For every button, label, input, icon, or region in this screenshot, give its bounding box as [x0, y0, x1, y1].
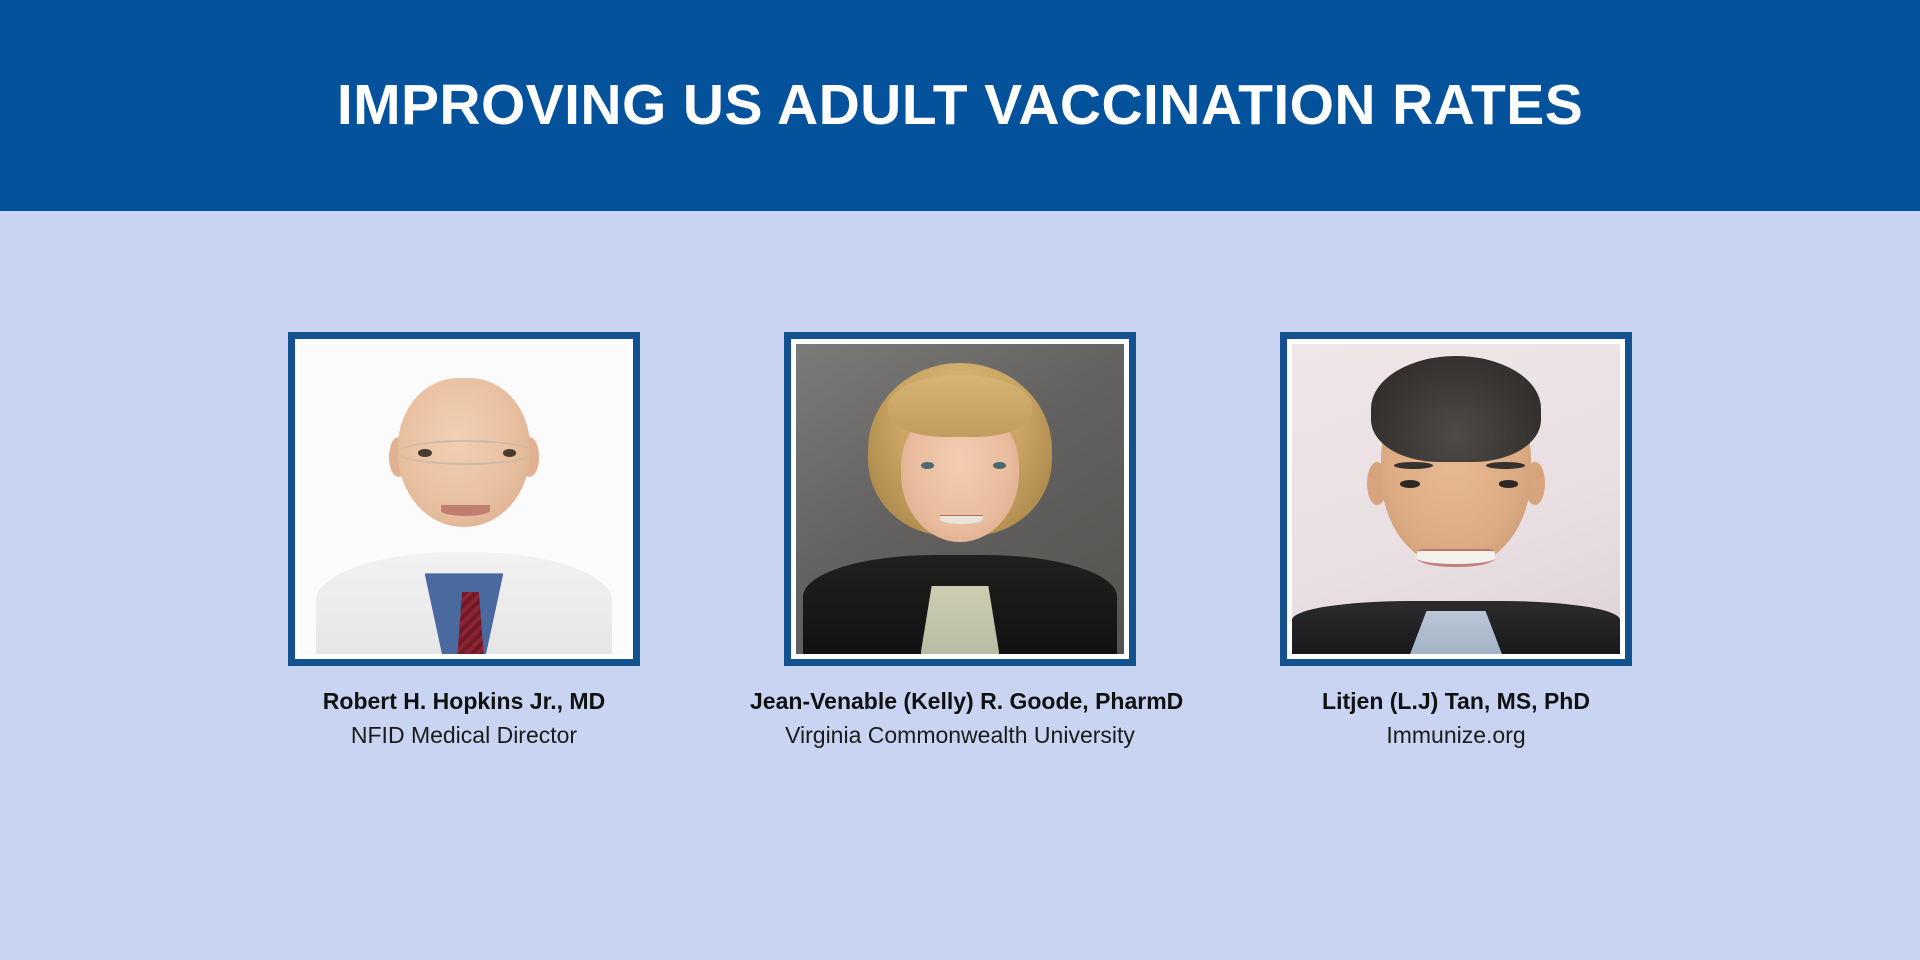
hair-shape: [389, 360, 540, 453]
speaker-caption-hopkins: Robert H. Hopkins Jr., MD NFID Medical D…: [254, 687, 674, 751]
speaker-card-tan: Litjen (L.J) Tan, MS, PhD Immunize.org: [1280, 332, 1632, 751]
mouth-shape: [1417, 549, 1496, 568]
eye-right-shape: [1499, 480, 1519, 487]
bangs-shape: [888, 375, 1032, 437]
speaker-caption-goode: Jean-Venable (Kelly) R. Goode, PharmD Vi…: [750, 687, 1170, 751]
speaker-name: Robert H. Hopkins Jr., MD: [254, 687, 674, 717]
speaker-caption-tan: Litjen (L.J) Tan, MS, PhD Immunize.org: [1246, 687, 1666, 751]
portrait-frame-hopkins: [288, 332, 640, 666]
title-banner: IMPROVING US ADULT VACCINATION RATES: [0, 0, 1920, 211]
portrait-photo-hopkins: [300, 344, 628, 654]
speaker-affiliation: Virginia Commonwealth University: [750, 720, 1170, 751]
portrait-frame-tan: [1280, 332, 1632, 666]
eye-left-shape: [921, 462, 934, 469]
hair-shape: [1371, 356, 1542, 461]
blouse-shape: [921, 586, 1000, 654]
eye-left-shape: [1400, 480, 1420, 487]
speaker-card-hopkins: Robert H. Hopkins Jr., MD NFID Medical D…: [288, 332, 640, 751]
speaker-name: Jean-Venable (Kelly) R. Goode, PharmD: [750, 687, 1170, 717]
speaker-name: Litjen (L.J) Tan, MS, PhD: [1246, 687, 1666, 717]
portrait-photo-tan: [1292, 344, 1620, 654]
mouth-shape: [940, 515, 983, 524]
slide-title: IMPROVING US ADULT VACCINATION RATES: [337, 77, 1583, 134]
portrait-photo-goode: [796, 344, 1124, 654]
mouth-shape: [441, 505, 490, 516]
portrait-frame-goode: [784, 332, 1136, 666]
eyebrow-left-shape: [1394, 462, 1433, 469]
speaker-affiliation: NFID Medical Director: [254, 720, 674, 751]
presentation-slide: IMPROVING US ADULT VACCINATION RATES: [0, 0, 1920, 960]
eyebrow-right-shape: [1486, 462, 1525, 469]
speaker-affiliation: Immunize.org: [1246, 720, 1666, 751]
speaker-card-goode: Jean-Venable (Kelly) R. Goode, PharmD Vi…: [784, 332, 1136, 751]
speakers-row: Robert H. Hopkins Jr., MD NFID Medical D…: [0, 332, 1920, 751]
